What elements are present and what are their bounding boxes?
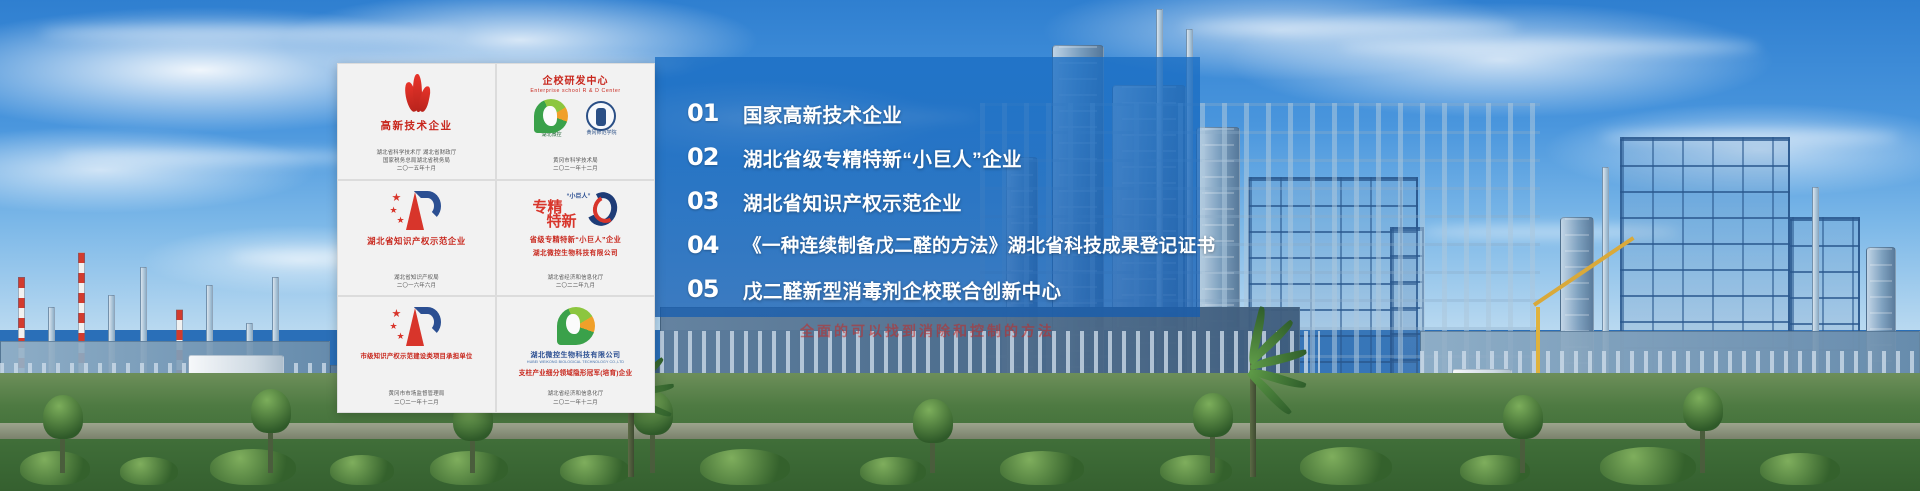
certificate-card[interactable]: 专精 特新 “小巨人” 省级专精特新“小巨人”企业 湖北微控生物科技有限公司 湖… — [496, 180, 655, 297]
certificate-subtitle-en: HUBEI WEIKONG BIOLOGICAL TECHNOLOGY CO.,… — [527, 360, 624, 364]
certificate-footer: 黄冈市市场监督管理局 二〇二一年十二月 — [389, 390, 445, 407]
list-item-label: 湖北省知识产权示范企业 — [743, 187, 962, 216]
list-item[interactable]: 02 湖北省级专精特新“小巨人”企业 — [655, 135, 1200, 179]
certificate-card[interactable]: 企校研发中心 Enterprise school R & D Center 湖北… — [496, 63, 655, 180]
certificate-card[interactable]: ★★★ 市级知识产权示范建设类项目承担单位 黄冈市市场监督管理局 二〇二一年十二… — [337, 296, 496, 413]
list-item[interactable]: 01 国家高新技术企业 — [655, 91, 1200, 135]
red-flame-icon — [404, 71, 430, 115]
green-swan-icon — [557, 304, 595, 348]
list-item-number: 01 — [687, 99, 743, 127]
ip-star-pen-icon: ★★★ — [390, 188, 444, 232]
certificate-title: 企校研发中心 — [543, 72, 609, 87]
list-item[interactable]: 03 湖北省知识产权示范企业 — [655, 179, 1200, 223]
certificate-card[interactable]: 高新技术企业 湖北省科学技术厅 湖北省财政厅 国家税务总局湖北省税务局 二〇一五… — [337, 63, 496, 180]
list-item-label: 《一种连续制备戊二醛的方法》湖北省科技成果登记证书 — [743, 232, 1216, 258]
achievement-list: 01 国家高新技术企业 02 湖北省级专精特新“小巨人”企业 03 湖北省知识产… — [655, 57, 1200, 317]
info-overlay-panel: 01 国家高新技术企业 02 湖北省级专精特新“小巨人”企业 03 湖北省知识产… — [655, 57, 1200, 317]
list-item-label: 湖北省级专精特新“小巨人”企业 — [743, 143, 1022, 172]
list-item-number: 05 — [687, 275, 743, 303]
certificate-subtitle-en: Enterprise school R & D Center — [530, 88, 620, 94]
certificate-grid: 高新技术企业 湖北省科学技术厅 湖北省财政厅 国家税务总局湖北省税务局 二〇一五… — [337, 63, 655, 413]
list-item-label: 国家高新技术企业 — [743, 99, 902, 128]
green-swan-icon — [534, 99, 568, 133]
certificate-company: 湖北微控生物科技有限公司 — [531, 350, 621, 360]
logo-caption: 黄冈师范学院 — [586, 131, 616, 137]
certificate-footer: 湖北省经济和信息化厅 二〇二一年十二月 — [548, 390, 604, 407]
certificate-title: 高新技术企业 — [381, 118, 453, 133]
certificate-title: 省级专精特新“小巨人”企业 — [530, 235, 621, 245]
watermark-text: 全面的可以找到消除和控制的方法 — [655, 320, 1200, 342]
certificate-footer: 湖北省科学技术厅 湖北省财政厅 国家税务总局湖北省税务局 二〇一五年十月 — [377, 149, 457, 174]
logo-caption: 湖北微控 — [534, 133, 568, 139]
certificate-title: 市级知识产权示范建设类项目承担单位 — [360, 351, 472, 360]
ip-star-pen-icon: ★★★ — [390, 304, 444, 348]
certificate-card[interactable]: ★★★ 湖北省知识产权示范企业 湖北省知识产权局 二〇一六年六月 — [337, 180, 496, 297]
certificate-title: 湖北省知识产权示范企业 — [367, 235, 466, 247]
list-item[interactable]: 04 《一种连续制备戊二醛的方法》湖北省科技成果登记证书 — [655, 223, 1200, 267]
certificate-card[interactable]: 湖北微控生物科技有限公司 HUBEI WEIKONG BIOLOGICAL TE… — [496, 296, 655, 413]
certificate-footer: 黄冈市科学技术局 二〇二一年十二月 — [553, 157, 598, 174]
certificate-title: 支柱产业细分领域隐形冠军(培育)企业 — [519, 367, 633, 377]
certificate-footer: 湖北省知识产权局 二〇一六年六月 — [394, 274, 439, 291]
certificate-footer: 湖北省经济和信息化厅 二〇二二年九月 — [548, 274, 604, 291]
list-item-number: 03 — [687, 187, 743, 215]
green-swan-and-university-seal-icon: 湖北微控 黄冈师范学院 — [534, 97, 616, 141]
list-item-number: 02 — [687, 143, 743, 171]
list-item[interactable]: 05 戊二醛新型消毒剂企校联合创新中心 — [655, 267, 1200, 311]
zhuanjing-texin-icon: 专精 特新 “小巨人” — [533, 188, 619, 232]
university-seal-icon — [586, 101, 616, 131]
list-item-number: 04 — [687, 231, 743, 259]
banner-hero: 高新技术企业 湖北省科学技术厅 湖北省财政厅 国家税务总局湖北省税务局 二〇一五… — [0, 0, 1920, 491]
certificate-company: 湖北微控生物科技有限公司 — [533, 247, 618, 257]
list-item-label: 戊二醛新型消毒剂企校联合创新中心 — [743, 275, 1061, 304]
